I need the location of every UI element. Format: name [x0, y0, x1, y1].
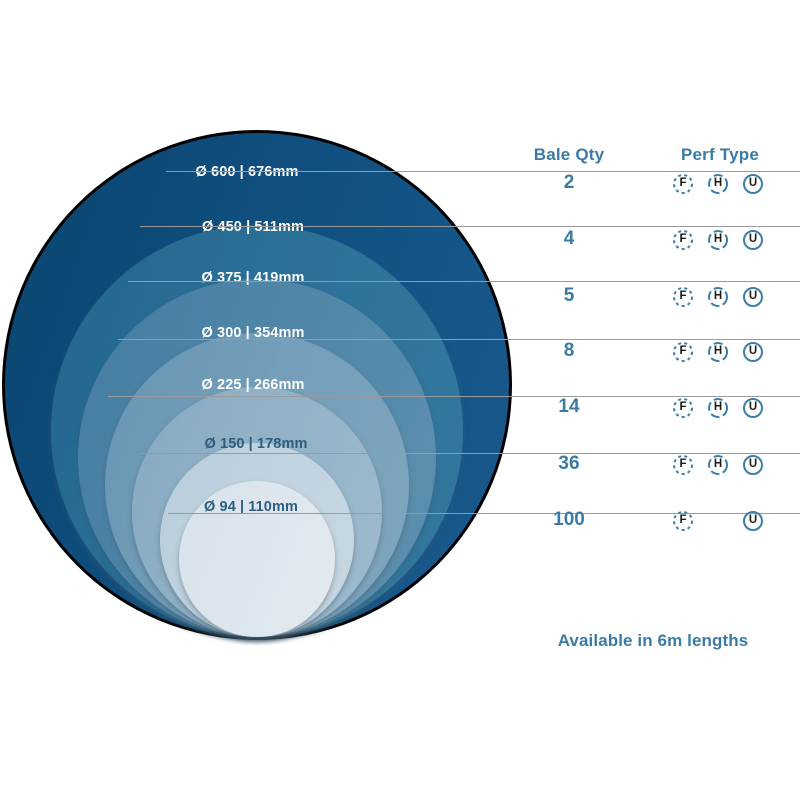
connector-line-375 [128, 281, 800, 282]
perf-badge-f[interactable]: F [672, 341, 694, 363]
perf-badge-f[interactable]: F [672, 229, 694, 251]
perf-badge-h[interactable]: H [707, 341, 729, 363]
column-header-perf-type: Perf Type [681, 145, 759, 165]
perf-badge-f-letter: F [672, 341, 694, 363]
connector-line-600 [166, 171, 800, 172]
availability-note: Available in 6m lengths [558, 631, 749, 651]
bale-qty-value-row-2: 4 [564, 228, 575, 250]
perf-badge-h[interactable]: H [707, 229, 729, 251]
perf-badge-f[interactable]: F [672, 454, 694, 476]
column-header-bale-qty: Bale Qty [534, 145, 605, 165]
perf-badge-u[interactable]: U [742, 510, 764, 532]
perf-badge-f-letter: F [672, 286, 694, 308]
perf-badge-f[interactable]: F [672, 286, 694, 308]
perf-badge-h-letter: H [707, 173, 729, 195]
perf-badge-h-letter: H [707, 341, 729, 363]
connector-line-300 [118, 339, 800, 340]
perf-badge-h-letter: H [707, 286, 729, 308]
perf-badge-u-letter: U [742, 286, 764, 308]
perf-badge-h[interactable]: H [707, 173, 729, 195]
perf-badge-u[interactable]: U [742, 173, 764, 195]
perf-badge-f-letter: F [672, 229, 694, 251]
bale-qty-value-row-6: 36 [558, 453, 579, 475]
connector-line-150 [140, 453, 800, 454]
perf-badge-h[interactable]: H [707, 286, 729, 308]
perf-badge-f-letter: F [672, 173, 694, 195]
ring-94 [179, 481, 335, 637]
perf-badge-f-letter: F [672, 510, 694, 532]
perf-badge-h-letter: H [707, 454, 729, 476]
perf-badge-u-letter: U [742, 397, 764, 419]
connector-line-94 [168, 513, 800, 514]
perf-badge-u[interactable]: U [742, 341, 764, 363]
perf-badge-u-letter: U [742, 510, 764, 532]
perf-badge-f[interactable]: F [672, 173, 694, 195]
perf-badge-u-letter: U [742, 173, 764, 195]
bale-qty-value-row-5: 14 [558, 396, 579, 418]
perf-badge-f-letter: F [672, 454, 694, 476]
perf-badge-u[interactable]: U [742, 397, 764, 419]
bale-qty-value-row-1: 2 [564, 172, 575, 194]
perf-badge-h[interactable]: H [707, 397, 729, 419]
perf-badge-h[interactable]: H [707, 454, 729, 476]
perf-badge-f[interactable]: F [672, 510, 694, 532]
connector-line-450 [140, 226, 800, 227]
perf-badge-f-letter: F [672, 397, 694, 419]
perf-badge-u[interactable]: U [742, 229, 764, 251]
bale-qty-value-row-3: 5 [564, 285, 575, 307]
perf-badge-f[interactable]: F [672, 397, 694, 419]
bale-qty-value-row-7: 100 [553, 509, 585, 531]
perf-badge-u-letter: U [742, 454, 764, 476]
perf-badge-u-letter: U [742, 229, 764, 251]
perf-badge-h-letter: H [707, 229, 729, 251]
perf-badge-u-letter: U [742, 341, 764, 363]
perf-badge-h-letter: H [707, 397, 729, 419]
connector-line-225 [108, 396, 800, 397]
perf-badge-u[interactable]: U [742, 286, 764, 308]
perf-badge-u[interactable]: U [742, 454, 764, 476]
bale-qty-value-row-4: 8 [564, 340, 575, 362]
infographic-root: Ø 600 | 676mm Ø 450 | 511mm Ø 375 | 419m… [0, 0, 800, 800]
